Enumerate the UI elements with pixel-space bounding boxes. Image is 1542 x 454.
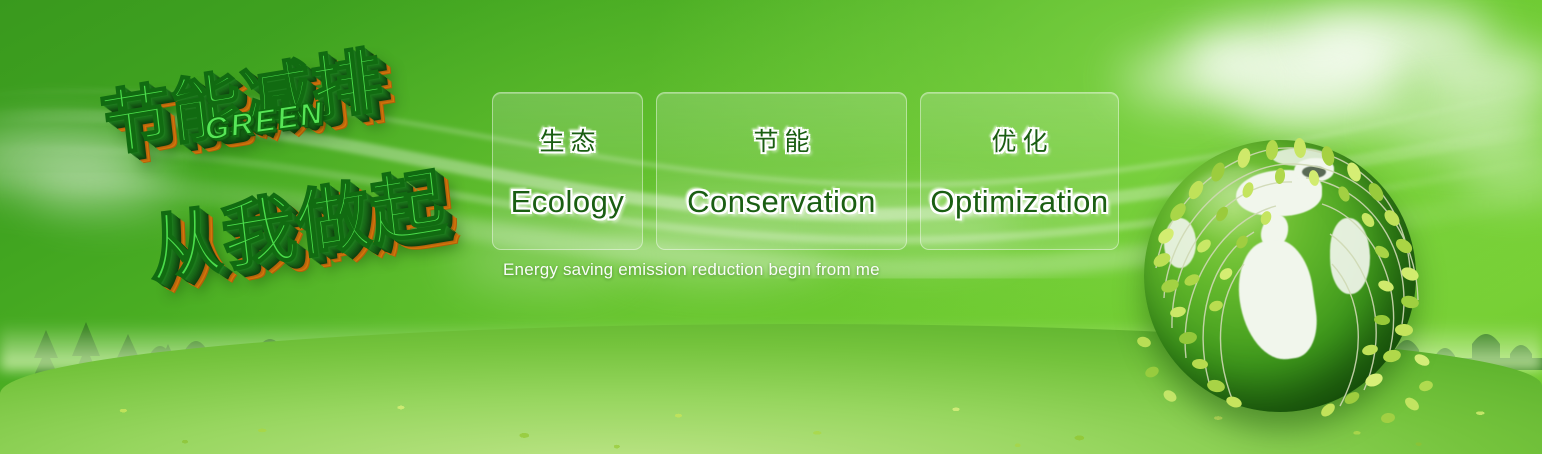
card-zh-label: 优化 — [985, 122, 1053, 158]
feature-card-optimization[interactable]: 优化 Optimization — [920, 92, 1119, 250]
card-en-label: Optimization — [930, 184, 1108, 220]
logo-bottom-text: 从我做起 — [141, 133, 507, 298]
feature-card-ecology[interactable]: 生态 Ecology — [492, 92, 643, 250]
leafy-green-earth-globe — [1126, 128, 1436, 428]
card-zh-label: 生态 — [533, 122, 601, 158]
feature-card-list: 生态 Ecology 节能 Conservation 优化 Optimizati… — [492, 92, 1119, 250]
feature-card-conservation[interactable]: 节能 Conservation — [656, 92, 907, 250]
card-en-label: Conservation — [687, 184, 876, 220]
continent-south-america — [1232, 235, 1322, 364]
continent-dark-lake — [1302, 166, 1326, 178]
card-zh-label: 节能 — [747, 122, 815, 158]
continent-arctic-patch — [1272, 148, 1328, 166]
logo-3d-text: 节能减排 GREEN 从我做起 — [84, 16, 507, 290]
green-banner: 节能减排 GREEN 从我做起 生态 Ecology 节能 Conservati… — [0, 0, 1542, 454]
globe-sphere — [1144, 140, 1416, 412]
continent-west-edge — [1164, 218, 1196, 268]
card-en-label: Ecology — [511, 184, 625, 220]
continent-africa-edge — [1330, 218, 1370, 294]
tagline-text: Energy saving emission reduction begin f… — [503, 260, 880, 280]
